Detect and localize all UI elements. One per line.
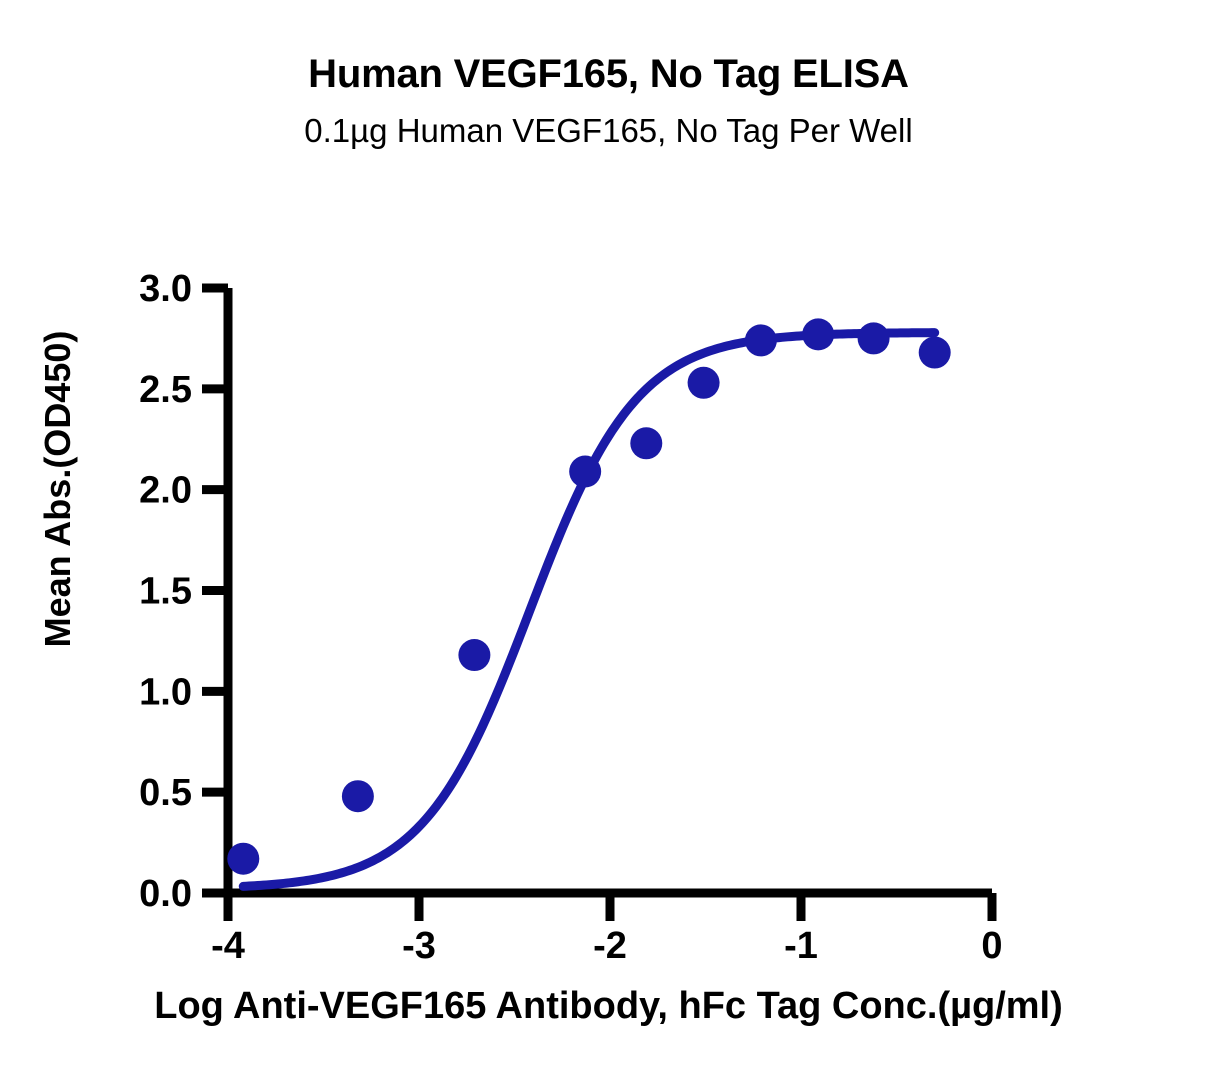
y-tick-label: 2.5 (139, 369, 192, 411)
y-axis-label: Mean Abs.(OD450) (37, 279, 79, 699)
data-point (745, 324, 777, 356)
data-point (342, 780, 374, 812)
data-point (919, 337, 951, 369)
x-tick-label: 0 (981, 925, 1002, 967)
x-tick-label: -2 (593, 925, 627, 967)
x-tick-label: -3 (402, 925, 436, 967)
axes (224, 288, 992, 893)
x-tick-label: -4 (211, 925, 245, 967)
plot-area: 0.00.51.01.52.02.53.0 -4-3-2-10 (0, 0, 1217, 1087)
x-tick-label: -1 (784, 925, 818, 967)
y-tick-label: 1.5 (139, 571, 192, 613)
data-point (458, 639, 490, 671)
x-axis-ticks: -4-3-2-10 (211, 893, 1002, 967)
data-point (227, 843, 259, 875)
data-point (802, 318, 834, 350)
y-tick-label: 0.5 (139, 772, 192, 814)
data-point (688, 367, 720, 399)
data-point (569, 456, 601, 488)
data-point (858, 322, 890, 354)
x-axis-label: Log Anti-VEGF165 Antibody, hFc Tag Conc.… (0, 985, 1217, 1028)
y-tick-label: 3.0 (139, 268, 192, 310)
y-tick-label: 1.0 (139, 671, 192, 713)
data-point-markers (227, 318, 950, 874)
y-tick-label: 0.0 (139, 873, 192, 915)
elisa-chart-figure: Human VEGF165, No Tag ELISA 0.1µg Human … (0, 0, 1217, 1087)
data-point (630, 427, 662, 459)
y-tick-label: 2.0 (139, 470, 192, 512)
y-axis-ticks: 0.00.51.01.52.02.53.0 (139, 268, 228, 915)
